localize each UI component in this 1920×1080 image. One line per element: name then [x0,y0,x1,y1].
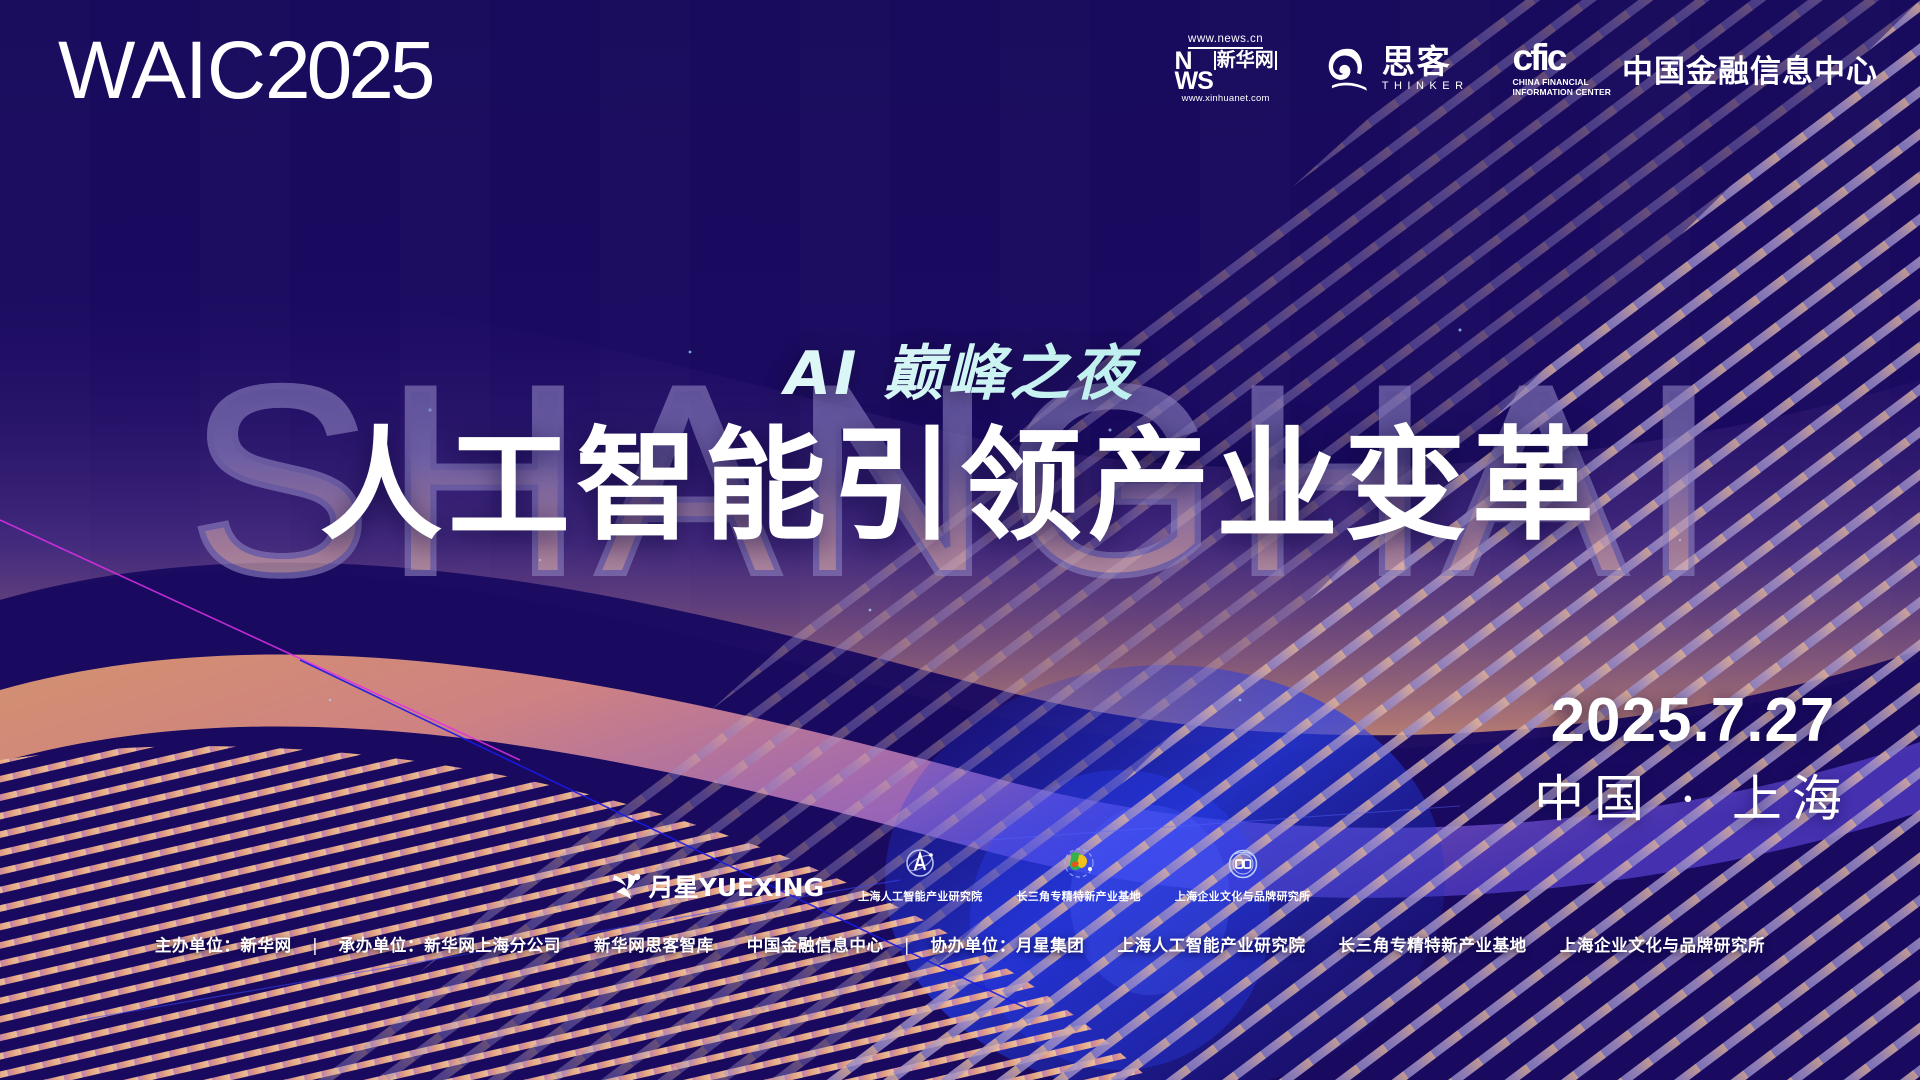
event-date: 2025.7.27 [1528,690,1858,752]
cfic-en-name: CHINA FINANCIAL INFORMATION CENTER [1513,78,1611,98]
sponsor-item: 上海人工智能产业研究院 [858,845,982,904]
xinhua-abbr-ws: WS [1174,71,1212,92]
credits-organizer: 承办单位：新华网上海分公司 [339,936,561,955]
sponsor-logo-strip: 月星YUEXING 上海人工智能产业研究院 长三角专精特新产业基地 [0,845,1920,904]
page-title: 人工智能引领产业变革 [0,415,1920,559]
xinhua-logo: www.news.cn N WS 新华网 www.xinhuanet.com [1174,34,1276,103]
ai-institute-icon [900,845,940,885]
poster-header: WAIC2025 www.news.cn N WS 新华网 www.xinhua… [0,0,1920,140]
cfic-abbr: cfic [1513,39,1565,76]
yangtze-base-icon [1059,845,1099,885]
waic-logo-text: WAIC [58,25,265,116]
waic-logo: WAIC2025 [58,30,431,112]
cfic-mark: cfic CHINA FINANCIAL INFORMATION CENTER [1513,39,1611,98]
credits-line: 主办单位：新华网 | 承办单位：新华网上海分公司 新华网思客智库 中国金融信息中… [0,932,1920,956]
sponsor-name: 月星YUEXING [649,868,825,904]
credits-cohost-2: 上海人工智能产业研究院 [1117,936,1305,955]
sponsor-name: 长三角专精特新产业基地 [1016,888,1140,904]
partner-logo-group: www.news.cn N WS 新华网 www.xinhuanet.com [1174,34,1878,103]
credits-cohost: 协办单位：月星集团 [931,936,1085,955]
credits-host: 主办单位：新华网 [155,936,292,955]
sponsor-name: 上海企业文化与品牌研究所 [1175,888,1311,904]
credits-separator: | [298,936,332,955]
thinker-swirl-icon [1321,43,1373,95]
event-subtitle: AI 巅峰之夜 [0,325,1920,412]
xinhua-url-bottom: www.xinhuanet.com [1182,94,1270,104]
xinhua-url-top: www.news.cn [1188,34,1263,49]
sponsor-item: 月星YUEXING [610,868,825,904]
thinker-en-name: THINKER [1382,81,1469,92]
waic-logo-year: 2025 [265,25,431,116]
sponsor-name: 上海人工智能产业研究院 [858,888,982,904]
credits-organizer-2: 新华网思客智库 [594,936,714,955]
credits-cohost-3: 长三角专精特新产业基地 [1339,936,1527,955]
credits-cohost-4: 上海企业文化与品牌研究所 [1560,936,1765,955]
event-datetime-block: 2025.7.27 中国 · 上海 [1528,690,1858,824]
cfic-en-line2: INFORMATION CENTER [1513,88,1611,98]
xinhua-mark: N WS 新华网 [1174,51,1276,92]
poster-canvas: SHANGHAI WAIC2025 www.news.cn N WS 新华网 w… [0,0,1920,1080]
yuexing-lockup: 月星YUEXING [610,868,825,904]
event-location: 中国 · 上海 [1528,774,1858,824]
thinker-logo: 思客 THINKER [1321,43,1469,95]
thinker-text: 思客 THINKER [1382,45,1469,92]
thinker-cn-name: 思客 [1382,45,1469,78]
sponsor-item: 长三角专精特新产业基地 [1016,845,1140,904]
cfic-logo: cfic CHINA FINANCIAL INFORMATION CENTER … [1513,39,1878,98]
credits-separator-2: | [890,936,924,955]
yuexing-star-icon [610,871,644,901]
xinhua-abbr: N WS [1174,51,1212,92]
credits-organizer-3: 中国金融信息中心 [747,936,884,955]
sponsor-item: 上海企业文化与品牌研究所 [1175,845,1311,904]
xinhua-cn-name: 新华网 [1214,51,1277,70]
brand-institute-icon [1223,845,1263,885]
cfic-cn-name: 中国金融信息中心 [1622,46,1878,91]
